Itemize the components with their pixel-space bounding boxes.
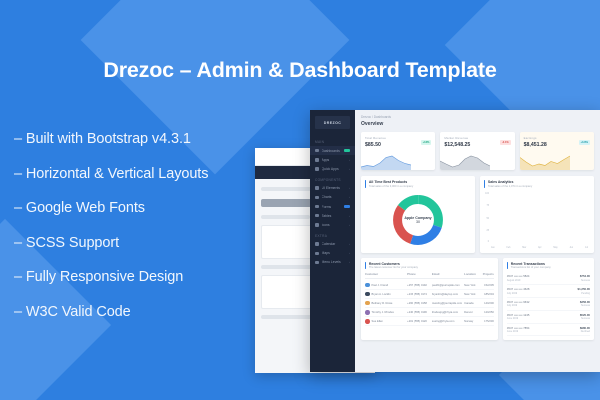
panel-accent-bar bbox=[484, 180, 485, 188]
transaction-amount: $520.00 bbox=[580, 313, 590, 317]
cell-phone: +240 (555) 0196 bbox=[407, 311, 432, 314]
panel-header: Sales Analytics Total sales of the 1,074… bbox=[484, 180, 590, 188]
breadcrumb: Drezoc / Dashboards bbox=[361, 115, 594, 119]
bar-groups bbox=[491, 195, 588, 243]
chevron-right-icon: › bbox=[349, 251, 350, 255]
sidebar-section-label: Main bbox=[310, 136, 355, 146]
x-tick: Jul bbox=[585, 247, 588, 249]
bar-chart-x-axis: Jan Feb Mar Apr May Jun Jul bbox=[491, 247, 588, 249]
table-row[interactable]: Bryan A. Locklin +215 (555) 0174 bryanli… bbox=[365, 290, 494, 299]
panel-accent-bar bbox=[507, 262, 508, 270]
transaction-card-number: 4547 •••• •••• 1245 bbox=[507, 313, 580, 317]
sidebar-item-label: Forms bbox=[322, 205, 342, 209]
chevron-right-icon: › bbox=[349, 158, 350, 162]
transaction-amount: $1,250.00 bbox=[578, 287, 590, 291]
transaction-row[interactable]: 4547 •••• •••• 7854 June 2019 $980.00 De… bbox=[507, 324, 590, 337]
avatar bbox=[365, 310, 370, 315]
x-tick: Jan bbox=[491, 247, 495, 249]
sidebar-item-menu-levels[interactable]: Menu Levels › bbox=[310, 258, 355, 267]
x-tick: Mar bbox=[522, 247, 526, 249]
y-tick: 75 bbox=[486, 205, 489, 207]
panel-sales-analytics: Sales Analytics Total sales of the 1,074… bbox=[480, 176, 594, 253]
chart-panel-row: All Time Best Products Total sales of th… bbox=[361, 176, 594, 253]
panel-recent-transactions: Recent Transactions Transactions list of… bbox=[503, 258, 594, 341]
transaction-card-number: 4547 •••• •••• 5824 bbox=[507, 274, 580, 278]
sidebar-item-label: Icons bbox=[322, 223, 347, 227]
cell-phone: +201 (555) 0120 bbox=[407, 320, 432, 323]
tables-icon bbox=[315, 214, 319, 218]
sidebar-item-label: Maps bbox=[322, 251, 347, 255]
y-tick: 0 bbox=[488, 241, 489, 243]
dashboard-sidebar: DREZOC Main Dashboards Apps › Quick Apps… bbox=[310, 110, 355, 372]
panel-title: Sales Analytics bbox=[488, 180, 532, 184]
sidebar-item-label: Apps bbox=[322, 158, 347, 162]
dashboard-content: Drezoc / Dashboards Overview Total Reven… bbox=[355, 110, 600, 372]
column-header-email: Email bbox=[432, 272, 464, 276]
x-tick: Apr bbox=[538, 247, 542, 249]
transaction-row[interactable]: 4547 •••• •••• 1245 June 2019 $520.00 Su… bbox=[507, 311, 590, 324]
transaction-card-number: 4547 •••• •••• 7854 bbox=[507, 326, 580, 330]
panel-header: Recent Transactions Transactions list of… bbox=[507, 262, 590, 270]
apps-icon bbox=[315, 158, 319, 162]
x-tick: Jun bbox=[569, 247, 573, 249]
avatar bbox=[365, 283, 370, 288]
promo-headline: Drezoc – Admin & Dashboard Template bbox=[0, 58, 600, 83]
avatar bbox=[365, 319, 370, 324]
menu-levels-icon bbox=[315, 261, 319, 265]
cell-customer: Paul J. Friend bbox=[372, 284, 389, 287]
transaction-date: July 2019 bbox=[507, 304, 580, 307]
x-tick: Feb bbox=[507, 247, 511, 249]
panel-subtitle: Total sales of the 3,000 in a company bbox=[369, 185, 413, 188]
cell-location: Canada bbox=[464, 302, 479, 305]
calendar-icon bbox=[315, 242, 319, 246]
feature-item: – Google Web Fonts bbox=[14, 201, 208, 216]
y-tick: 100 bbox=[485, 193, 489, 195]
cell-email: paulfri@jourrapide.com bbox=[432, 284, 464, 287]
stat-card-row: Total Revenue $85.50 +12% Market Revenue… bbox=[361, 132, 594, 170]
transaction-date: August 2019 bbox=[507, 279, 580, 282]
table-row[interactable]: Paul J. Friend +257 (555) 0192 paulfri@j… bbox=[365, 281, 494, 290]
feature-list: – Built with Bootstrap v4.3.1 – Horizont… bbox=[14, 132, 208, 339]
feature-item: – Fully Responsive Design bbox=[14, 270, 208, 285]
feature-item: – W3C Valid Code bbox=[14, 305, 208, 320]
panel-subtitle: Transactions list of your company bbox=[511, 266, 551, 269]
transaction-row[interactable]: 4547 •••• •••• 4628 July 2019 $1,250.00 … bbox=[507, 285, 590, 298]
y-tick: 25 bbox=[486, 230, 489, 232]
feature-item: – Horizontal & Vertical Layouts bbox=[14, 167, 208, 182]
cell-projects: 140/200 bbox=[479, 302, 494, 305]
transaction-card-number: 4547 •••• •••• 9632 bbox=[507, 300, 580, 304]
map-icon bbox=[315, 252, 319, 256]
icons-icon bbox=[315, 223, 319, 227]
transaction-date: June 2019 bbox=[507, 330, 580, 333]
sparkline-chart bbox=[440, 155, 490, 170]
sidebar-item-label: Charts bbox=[322, 195, 347, 199]
feature-item: – SCSS Support bbox=[14, 236, 208, 251]
cell-projects: 185/204 bbox=[479, 293, 494, 296]
sparkline-chart bbox=[520, 155, 570, 170]
transaction-amount: $356.00 bbox=[580, 300, 590, 304]
transaction-status: Success bbox=[580, 317, 590, 320]
forms-icon bbox=[315, 205, 319, 209]
cell-phone: +257 (555) 0192 bbox=[407, 284, 432, 287]
chevron-right-icon: › bbox=[349, 167, 350, 171]
sidebar-section-label: Components bbox=[310, 174, 355, 184]
sidebar-section-label: Extra bbox=[310, 230, 355, 240]
brand-logo-text: DREZOC bbox=[324, 121, 342, 125]
chevron-right-icon: › bbox=[349, 242, 350, 246]
panel-title: Recent Customers bbox=[369, 262, 418, 266]
status-badge bbox=[344, 205, 350, 209]
table-row[interactable]: Sue Ellen +201 (555) 0120 suelng@rhyta.c… bbox=[365, 317, 494, 326]
sidebar-item-quick-apps[interactable]: Quick Apps › bbox=[310, 164, 355, 173]
sidebar-item-label: Quick Apps bbox=[322, 167, 347, 171]
cell-location: Norway bbox=[464, 320, 479, 323]
cell-email: thodesjng@rhyta.com bbox=[432, 311, 464, 314]
placeholder-line bbox=[261, 215, 310, 219]
panel-all-time-best-products: All Time Best Products Total sales of th… bbox=[361, 176, 475, 253]
avatar bbox=[365, 301, 370, 306]
stat-card-total-revenue: Total Revenue $85.50 +12% bbox=[361, 132, 435, 170]
transaction-status: Success bbox=[580, 279, 590, 282]
page-title: Overview bbox=[361, 121, 594, 127]
cell-customer: Bethany R. Rowe bbox=[372, 302, 393, 305]
dashboard-icon bbox=[315, 149, 319, 153]
table-row[interactable]: Timothy J. Rhodes +240 (555) 0196 thodes… bbox=[365, 308, 494, 317]
brand-logo[interactable]: DREZOC bbox=[315, 116, 350, 129]
stat-card-earnings: Earnings $8,451.28 +3.8% bbox=[520, 132, 594, 170]
cell-location: New York bbox=[464, 293, 479, 296]
sidebar-item-label: Tables bbox=[322, 214, 347, 218]
column-header-phone: Phone bbox=[407, 272, 432, 276]
transaction-row[interactable]: 4547 •••• •••• 9632 July 2019 $356.00 Su… bbox=[507, 298, 590, 311]
sidebar-item-label: Dashboards bbox=[322, 149, 342, 153]
chevron-right-icon: › bbox=[349, 195, 350, 199]
sidebar-item-apps[interactable]: Apps › bbox=[310, 155, 355, 164]
chevron-right-icon: › bbox=[349, 214, 350, 218]
transaction-status: Success bbox=[580, 304, 590, 307]
panel-title: All Time Best Products bbox=[369, 180, 413, 184]
donut-chart: Apple Company 30 bbox=[365, 191, 471, 249]
transaction-amount: $754.00 bbox=[580, 274, 590, 278]
panel-subtitle: The latest customer list for your compan… bbox=[369, 266, 418, 269]
cell-phone: +260 (555) 0158 bbox=[407, 302, 432, 305]
bar-chart-y-axis: 100 75 50 25 0 bbox=[484, 193, 490, 243]
donut-center-label: Apple Company 30 bbox=[404, 216, 431, 224]
avatar bbox=[365, 292, 370, 297]
panel-title: Recent Transactions bbox=[511, 262, 551, 266]
transaction-status: Declined bbox=[580, 330, 590, 333]
sidebar-item-dashboards[interactable]: Dashboards bbox=[310, 146, 355, 155]
cell-customer: Timothy J. Rhodes bbox=[372, 311, 394, 314]
column-header-customer: Customer bbox=[365, 272, 407, 276]
column-header-projects: Projects bbox=[479, 272, 494, 276]
cell-email: rowebrg@jourrapide.com bbox=[432, 302, 464, 305]
sidebar-item-label: Menu Levels bbox=[322, 260, 347, 264]
transaction-amount: $980.00 bbox=[580, 326, 590, 330]
panel-accent-bar bbox=[365, 262, 366, 270]
cell-location: Denver bbox=[464, 311, 479, 314]
chevron-right-icon: › bbox=[349, 186, 350, 190]
panel-subtitle: Total sales of the 1,074 in a company bbox=[488, 185, 532, 188]
donut-company-name: Apple Company bbox=[404, 216, 431, 220]
donut-company-value: 30 bbox=[404, 220, 431, 224]
table-header-row: Customer Phone Email Location Projects bbox=[365, 272, 494, 279]
cell-email: bryanlin@dayrep.com bbox=[432, 293, 464, 296]
cell-location: New York bbox=[464, 284, 479, 287]
transaction-row[interactable]: 4547 •••• •••• 5824 August 2019 $754.00 … bbox=[507, 272, 590, 285]
transaction-card-number: 4547 •••• •••• 4628 bbox=[507, 287, 578, 291]
stat-change-badge: +12% bbox=[421, 140, 432, 145]
panel-accent-bar bbox=[365, 180, 366, 188]
cell-customer: Bryan A. Locklin bbox=[372, 293, 391, 296]
cell-email: suelng@rhyta.com bbox=[432, 320, 464, 323]
sidebar-item-icons[interactable]: Icons › bbox=[310, 220, 355, 229]
chevron-right-icon: › bbox=[349, 223, 350, 227]
table-panel-row: Recent Customers The latest customer lis… bbox=[361, 258, 594, 341]
sidebar-item-label: UI Elements bbox=[322, 186, 347, 190]
transaction-date: June 2019 bbox=[507, 317, 580, 320]
stat-change-badge: +3.8% bbox=[579, 140, 590, 145]
charts-icon bbox=[315, 196, 319, 200]
feature-item: – Built with Bootstrap v4.3.1 bbox=[14, 132, 208, 147]
dashboard-mockup-group: DREZOC Main Dashboards Apps › Quick Apps… bbox=[255, 110, 600, 375]
sidebar-item-calendar[interactable]: Calendar › bbox=[310, 240, 355, 249]
bar-chart: 100 75 50 25 0 bbox=[484, 191, 590, 249]
ui-elements-icon bbox=[315, 186, 319, 190]
chevron-right-icon: › bbox=[349, 260, 350, 264]
column-header-location: Location bbox=[464, 272, 479, 276]
sidebar-item-tables[interactable]: Tables › bbox=[310, 211, 355, 220]
quick-apps-icon bbox=[315, 167, 319, 171]
cell-phone: +215 (555) 0174 bbox=[407, 293, 432, 296]
panel-header: All Time Best Products Total sales of th… bbox=[365, 180, 471, 188]
panel-header: Recent Customers The latest customer lis… bbox=[365, 262, 494, 270]
cell-projects: 120/250 bbox=[479, 311, 494, 314]
primary-dashboard-window: DREZOC Main Dashboards Apps › Quick Apps… bbox=[310, 110, 600, 372]
sidebar-item-forms[interactable]: Forms bbox=[310, 202, 355, 211]
transaction-date: July 2019 bbox=[507, 292, 578, 295]
cell-customer: Sue Ellen bbox=[372, 320, 384, 323]
sparkline-chart bbox=[361, 155, 411, 170]
stat-card-market-revenue: Market Revenue $12,548.25 -2.4% bbox=[440, 132, 514, 170]
x-tick: May bbox=[553, 247, 557, 249]
transaction-status: Pending bbox=[578, 292, 590, 295]
y-tick: 50 bbox=[486, 218, 489, 220]
table-row[interactable]: Bethany R. Rowe +260 (555) 0158 rowebrg@… bbox=[365, 299, 494, 308]
cell-projects: 152/205 bbox=[479, 284, 494, 287]
panel-recent-customers: Recent Customers The latest customer lis… bbox=[361, 258, 498, 341]
sidebar-item-label: Calendar bbox=[322, 242, 347, 246]
sidebar-item-ui-elements[interactable]: UI Elements › bbox=[310, 184, 355, 193]
cell-projects: 175/230 bbox=[479, 320, 494, 323]
status-badge bbox=[344, 149, 350, 153]
sidebar-item-maps[interactable]: Maps › bbox=[310, 249, 355, 258]
sidebar-item-charts[interactable]: Charts › bbox=[310, 193, 355, 202]
stat-change-badge: -2.4% bbox=[500, 140, 511, 145]
